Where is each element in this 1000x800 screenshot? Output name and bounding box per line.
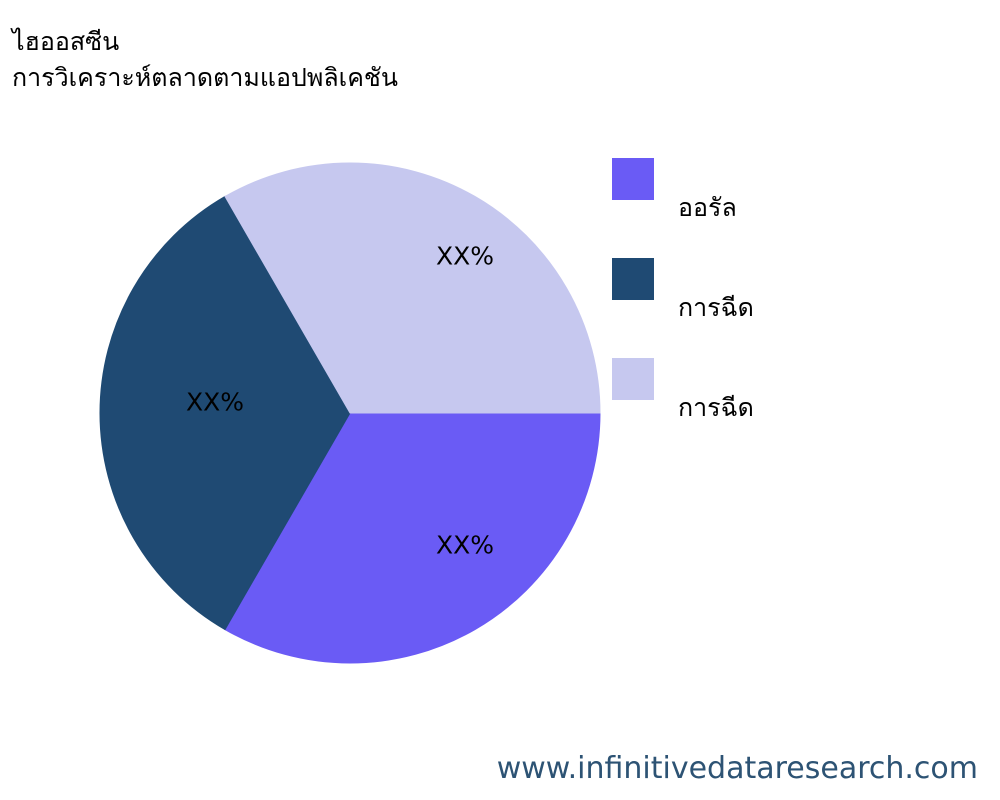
chart-page: ไฮออสซีน การวิเคราะห์ตลาดตามแอปพลิเคชัน … [0,0,1000,800]
pie-slice-value-1: XX% [186,388,244,417]
legend-swatch-injection-light [612,358,654,400]
legend-item-1[interactable]: การฉีด [612,258,942,358]
legend-label-0: ออรัล [678,188,737,228]
legend-item-0[interactable]: ออรัล [612,158,942,258]
legend-label-1: การฉีด [678,288,754,328]
chart-legend: ออรัล การฉีด การฉีด [612,158,942,458]
pie-slice-value-2: XX% [436,242,494,271]
legend-label-2: การฉีด [678,388,754,428]
source-url[interactable]: www.infinitivedataresearch.com [497,751,978,786]
legend-item-2[interactable]: การฉีด [612,358,942,458]
legend-swatch-oral [612,158,654,200]
pie-slice-value-0: XX% [436,531,494,560]
legend-swatch-injection-dark [612,258,654,300]
